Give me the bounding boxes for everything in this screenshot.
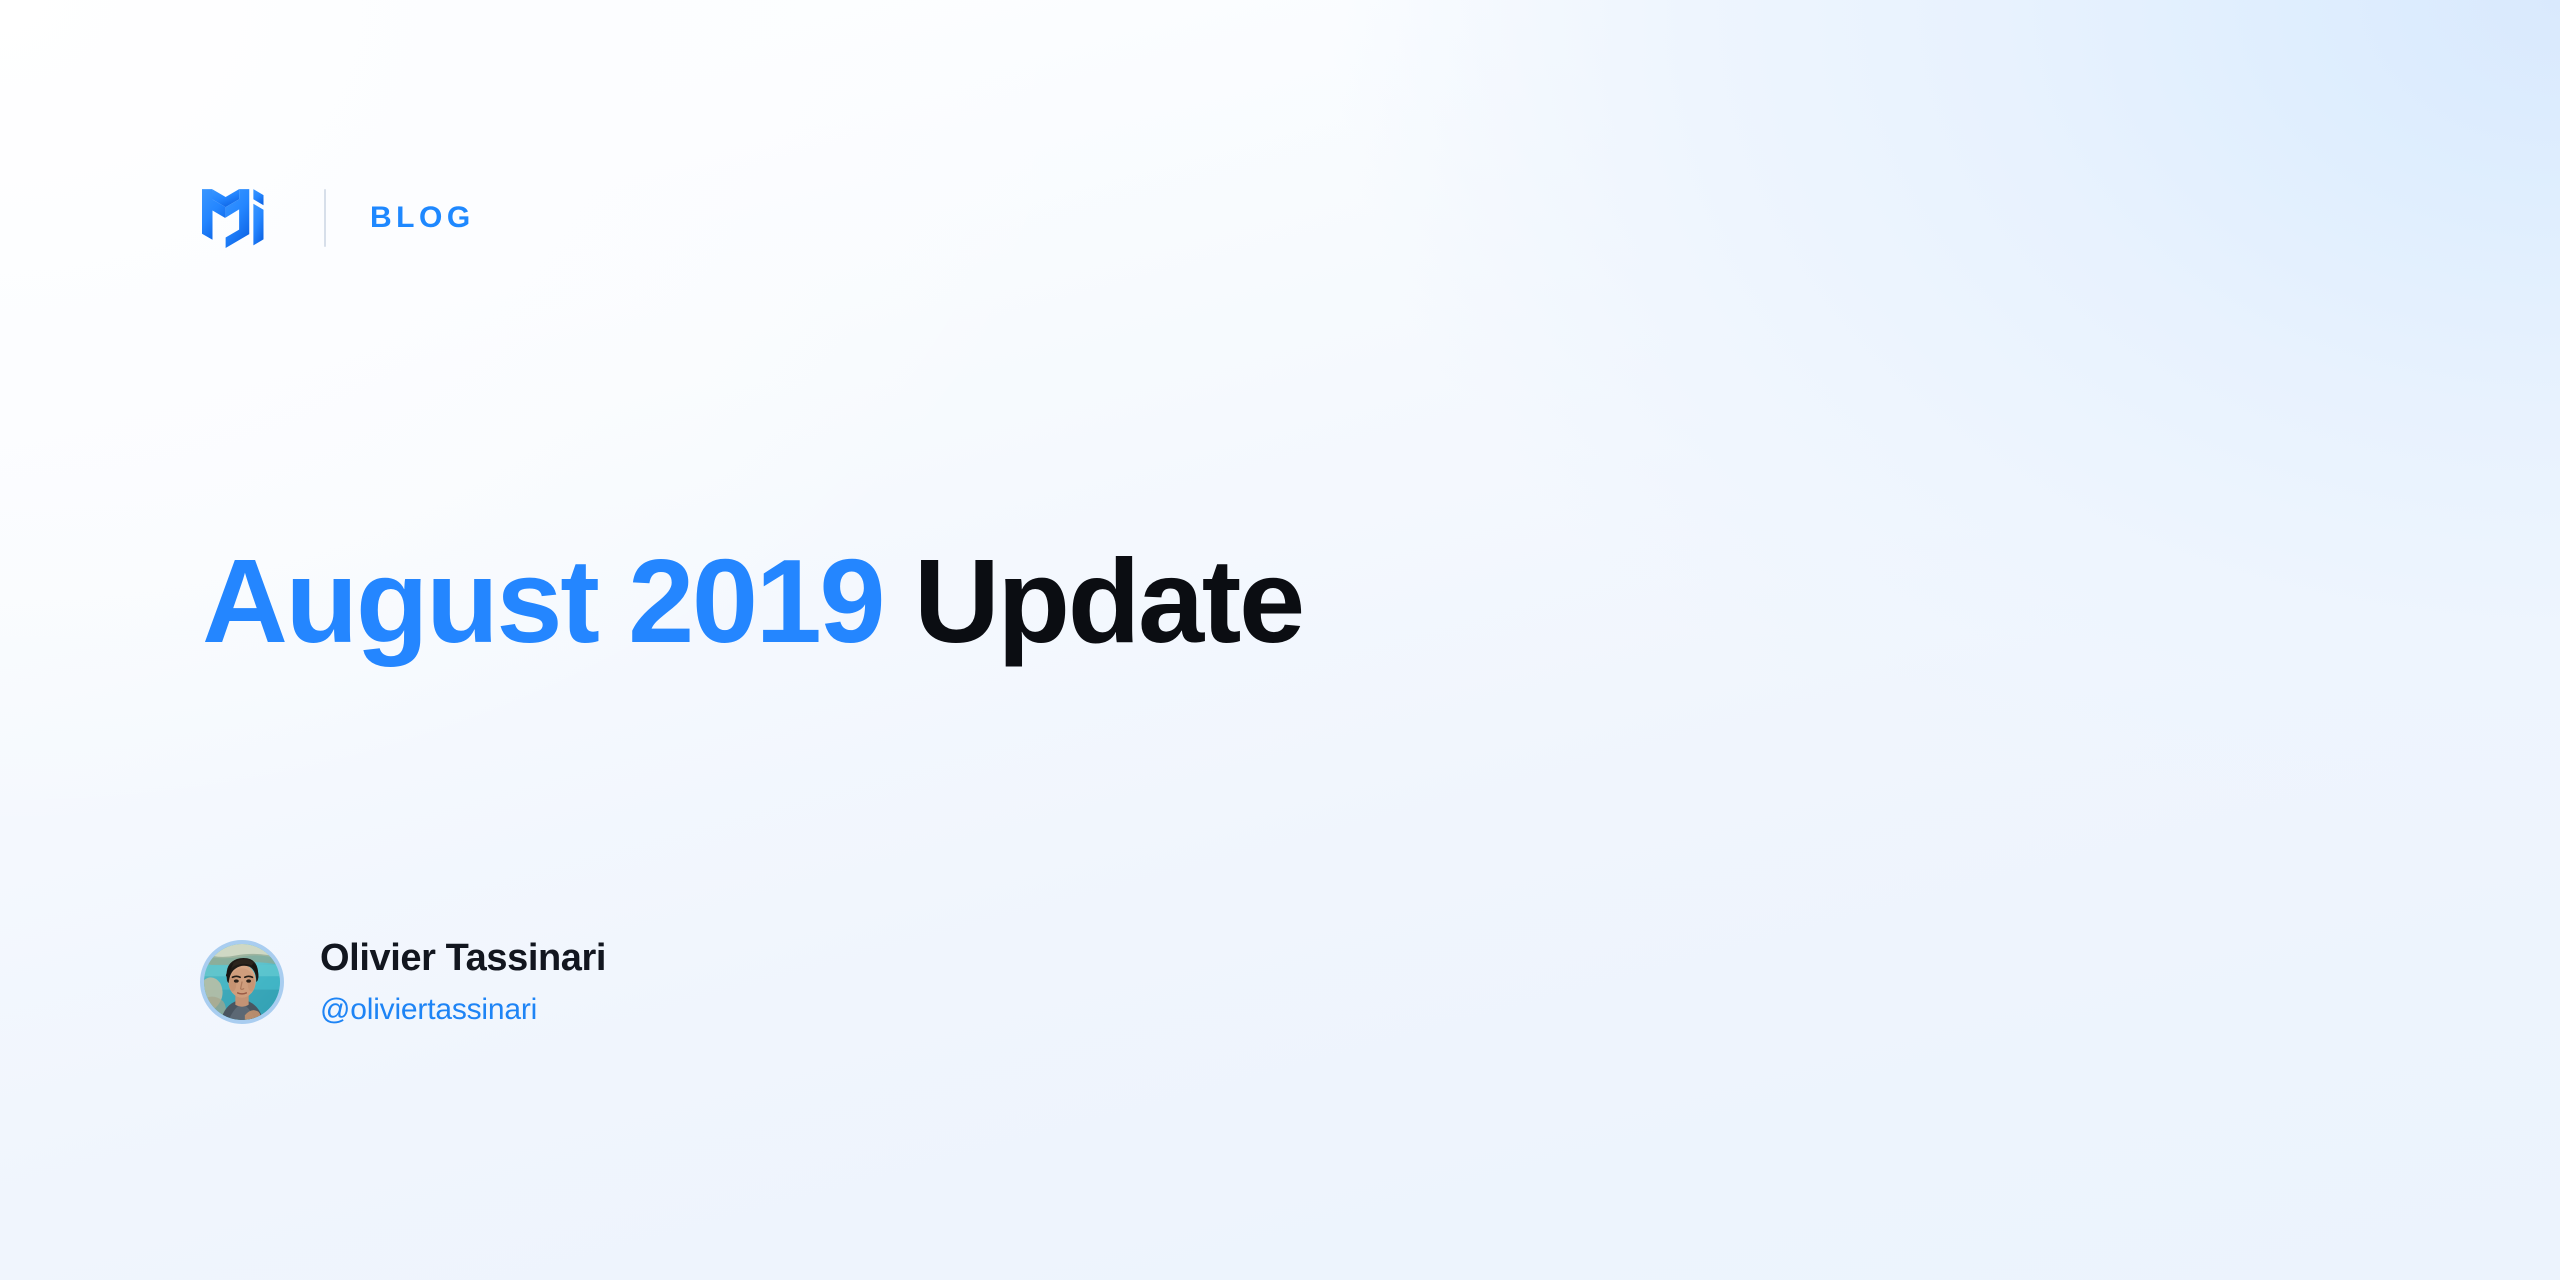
blog-label[interactable]: BLOG: [370, 203, 475, 233]
author-name: Olivier Tassinari: [320, 936, 606, 981]
page-title-rest: Update: [883, 535, 1303, 668]
page-title-accent: August 2019: [202, 535, 883, 668]
page-title: August 2019 Update: [202, 538, 1303, 667]
author-handle[interactable]: @oliviertassinari: [320, 990, 606, 1029]
blog-hero-card: BLOG August 2019 Update: [0, 0, 2560, 1280]
mui-logo-icon[interactable]: [202, 187, 280, 249]
author-block[interactable]: Olivier Tassinari @oliviertassinari: [200, 936, 606, 1029]
author-text: Olivier Tassinari @oliviertassinari: [320, 936, 606, 1029]
avatar[interactable]: [200, 940, 284, 1024]
brand-divider: [324, 189, 326, 247]
brand-header[interactable]: BLOG: [202, 186, 475, 250]
